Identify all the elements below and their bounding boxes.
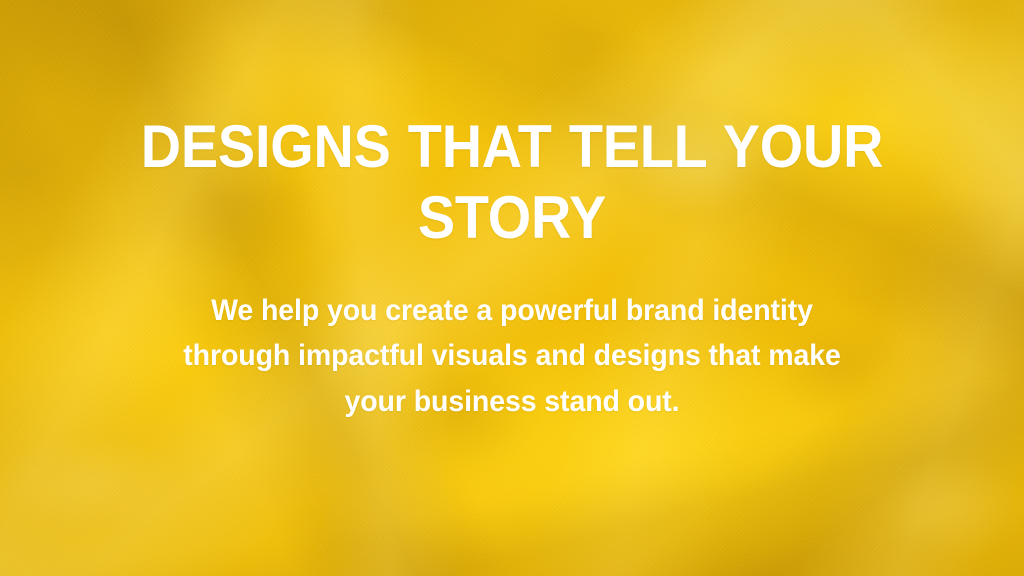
- hero-subheadline: We help you create a powerful brand iden…: [26, 288, 999, 425]
- hero-content: DESIGNS THAT TELL YOUR STORY We help you…: [0, 0, 1024, 576]
- hero-slide: DESIGNS THAT TELL YOUR STORY We help you…: [0, 0, 1024, 576]
- hero-headline: DESIGNS THAT TELL YOUR STORY: [36, 112, 988, 254]
